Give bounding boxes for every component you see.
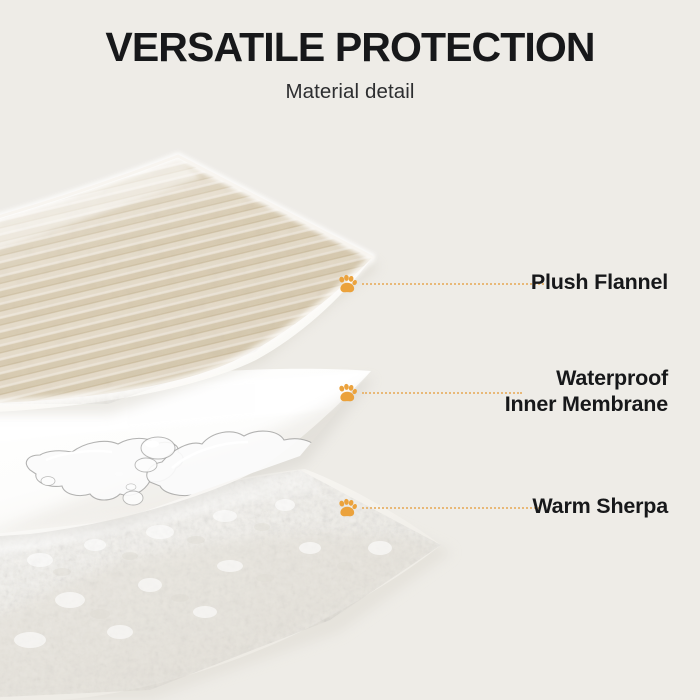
callout-label-line-1: Waterproof	[556, 366, 668, 390]
page-subtitle: Material detail	[0, 69, 700, 104]
product-illustration	[0, 0, 700, 700]
leader-line	[362, 507, 540, 511]
paw-icon	[336, 273, 358, 295]
callout-label-plush-flannel: Plush Flannel	[531, 270, 668, 296]
callout-label-waterproof-inner-membrane: Waterproof Inner Membrane	[505, 366, 668, 417]
callout-label-warm-sherpa: Warm Sherpa	[532, 494, 668, 520]
infographic-canvas: VERSATILE PROTECTION Material detail Plu…	[0, 0, 700, 700]
leader-line	[362, 392, 522, 396]
leader-line	[362, 283, 544, 287]
header: VERSATILE PROTECTION Material detail	[0, 0, 700, 104]
paw-icon	[336, 497, 358, 519]
callout-label-line-2: Inner Membrane	[505, 392, 668, 416]
paw-icon	[336, 382, 358, 404]
page-title: VERSATILE PROTECTION	[0, 0, 700, 69]
